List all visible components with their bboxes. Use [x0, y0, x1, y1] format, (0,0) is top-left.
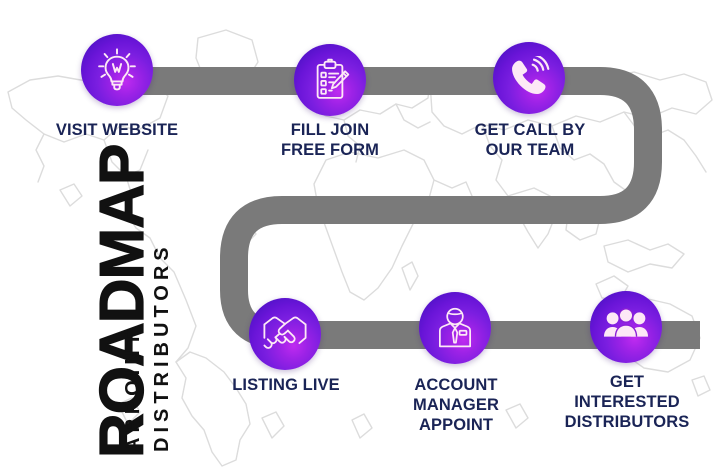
step-4-label: LISTING LIVE	[200, 375, 372, 395]
step-3-badge[interactable]	[493, 42, 565, 114]
step-4-badge[interactable]	[249, 298, 321, 370]
step-5-badge[interactable]	[419, 292, 491, 364]
phone-call-icon	[507, 56, 551, 100]
step-2-label: FILL JOIN FREE FORM	[245, 120, 415, 160]
step-6-label: GET INTERESTED DISTRIBUTORS	[537, 372, 717, 432]
handshake-icon	[262, 311, 308, 357]
subtitle-line-1: APPOINT	[123, 328, 143, 452]
account-manager-person-icon	[433, 306, 477, 350]
subtitle-line-2: DISTRIBUTORS	[152, 242, 172, 452]
roadmap-infographic: ROADMAP APPOINT DISTRIBUTORS	[0, 0, 717, 473]
step-6-badge[interactable]	[590, 291, 662, 363]
step-2-badge[interactable]	[294, 44, 366, 116]
people-group-icon	[603, 304, 649, 350]
step-3-label: GET CALL BY OUR TEAM	[440, 120, 620, 160]
clipboard-checklist-pencil-icon	[308, 58, 352, 102]
title-block: ROADMAP APPOINT DISTRIBUTORS	[0, 0, 165, 473]
step-5-label: ACCOUNT MANAGER APPOINT	[373, 375, 539, 435]
